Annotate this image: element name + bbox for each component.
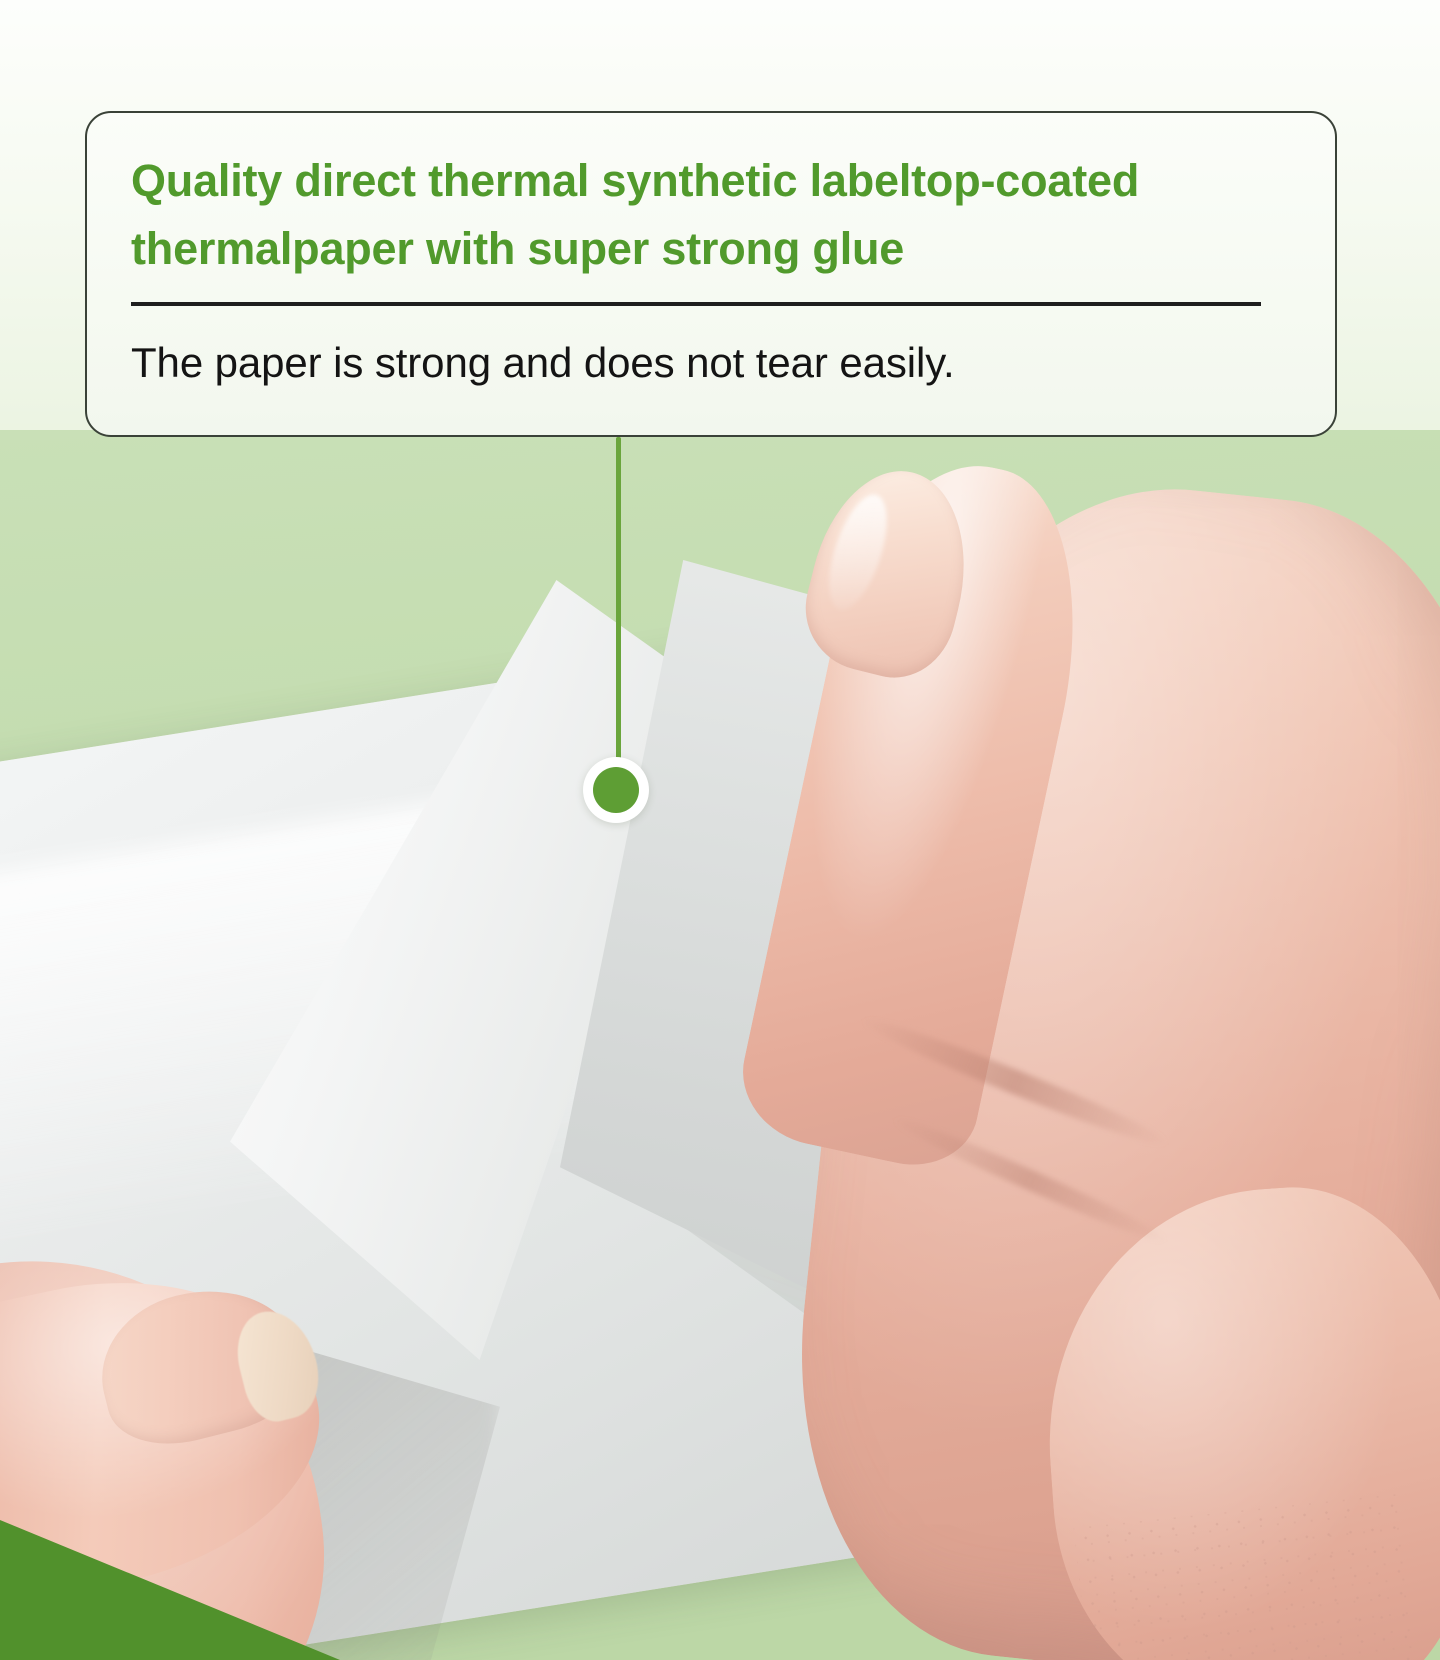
callout-connector-dot: [583, 757, 649, 823]
callout-body-text: The paper is strong and does not tear ea…: [131, 336, 1291, 391]
callout-connector-line: [616, 437, 621, 772]
product-feature-banner: Quality direct thermal synthetic labelto…: [0, 0, 1440, 1660]
product-photo: [0, 430, 1440, 1660]
callout-title: Quality direct thermal synthetic labelto…: [131, 147, 1291, 284]
callout-divider: [131, 302, 1261, 306]
feature-callout-card: Quality direct thermal synthetic labelto…: [85, 111, 1337, 437]
